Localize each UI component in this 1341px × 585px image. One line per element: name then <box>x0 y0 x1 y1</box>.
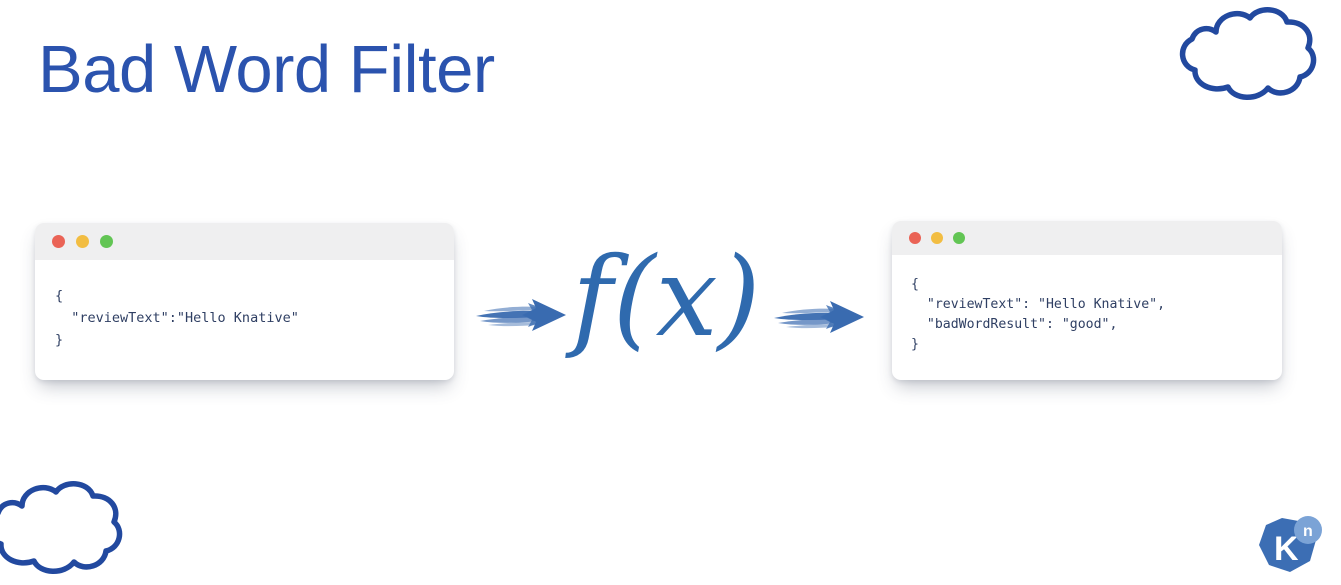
output-json-code: { "reviewText": "Hello Knative", "badWor… <box>892 275 1282 355</box>
input-code-window: { "reviewText":"Hello Knative" } <box>35 223 454 380</box>
arrow-right-icon <box>474 294 570 336</box>
output-code-window: { "reviewText": "Hello Knative", "badWor… <box>892 221 1282 380</box>
knative-n-letter: n <box>1303 523 1313 540</box>
minimize-dot[interactable] <box>76 235 89 248</box>
cloud-icon <box>0 478 123 578</box>
close-dot[interactable] <box>909 232 921 244</box>
arrow-right-icon <box>772 296 868 338</box>
cloud-icon <box>1172 4 1317 104</box>
window-titlebar <box>35 223 454 260</box>
maximize-dot[interactable] <box>953 232 965 244</box>
window-body: { "reviewText":"Hello Knative" } <box>35 260 454 352</box>
maximize-dot[interactable] <box>100 235 113 248</box>
knative-logo-icon: K n <box>1256 516 1326 580</box>
page-title: Bad Word Filter <box>38 32 495 107</box>
input-json-code: { "reviewText":"Hello Knative" } <box>35 286 454 352</box>
transform-function-symbol: f(x) <box>572 242 761 352</box>
window-titlebar <box>892 221 1282 255</box>
window-body: { "reviewText": "Hello Knative", "badWor… <box>892 255 1282 355</box>
close-dot[interactable] <box>52 235 65 248</box>
minimize-dot[interactable] <box>931 232 943 244</box>
